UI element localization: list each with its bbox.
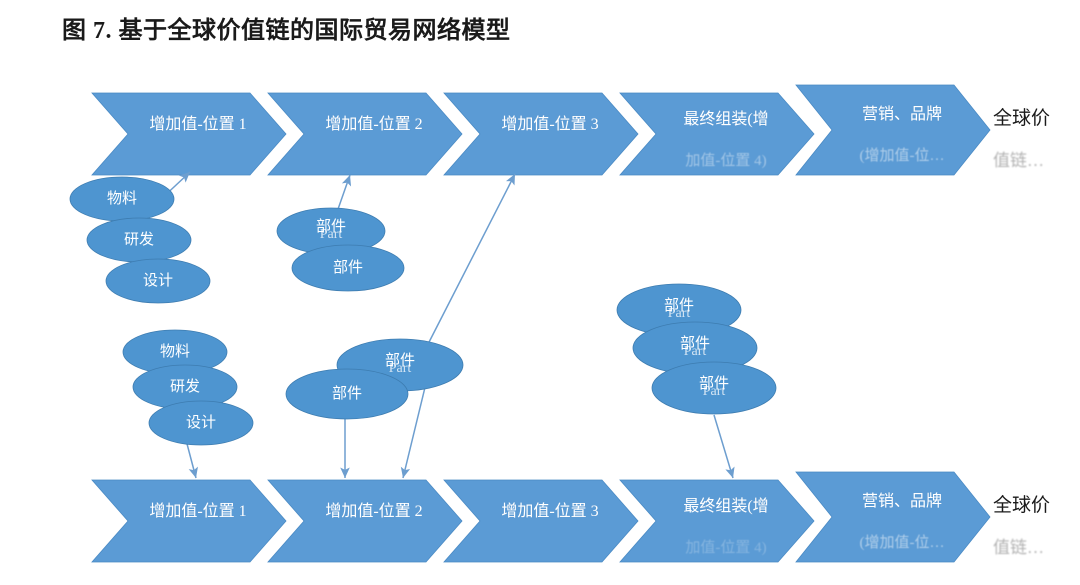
ellipse-label-c1-1: 研发 (89, 233, 189, 248)
ellipse-label-c5-1: 部件 Part (645, 337, 745, 359)
chevron-label-b1: 增加值-位置 1 (128, 497, 268, 521)
ellipse-label-c1-0: 物料 (72, 192, 172, 207)
ellipse-label-c4-1: 部件 (297, 387, 397, 402)
chevron-label-b4: 最终组装(增 加值-位置 4) (656, 492, 796, 557)
arrow-c4-to-b2b (403, 375, 428, 478)
chevron-shape-t2[interactable] (268, 93, 462, 175)
chevron-label-b3: 增加值-位置 3 (480, 497, 620, 521)
ellipse-label-c2-1: 部件 (298, 261, 398, 276)
arrow-c2-to-t2 (337, 175, 350, 212)
ellipse-label-c5-2: 部件 Part (664, 377, 764, 399)
chevron-label-t2: 增加值-位置 2 (304, 110, 444, 134)
arrow-c3-to-b1 (186, 440, 196, 478)
connector-arrows (143, 172, 733, 478)
ellipse-label-c2-0: 部件 Part (281, 220, 381, 242)
arrow-c4-to-t3 (425, 174, 515, 350)
cluster-c4-shapes (286, 339, 463, 419)
chevron-shape-b2[interactable] (268, 480, 462, 562)
arrow-c5-to-b4 (714, 415, 733, 478)
chevron-shape-b1[interactable] (92, 480, 286, 562)
diagram-canvas: 增加值-位置 1 增加值-位置 2 增加值-位置 3 最终组装(增 加值-位置 … (0, 0, 1080, 585)
ellipse-label-c3-1: 研发 (135, 380, 235, 395)
chevron-shape-t3[interactable] (444, 93, 638, 175)
top-chain-edge-caption: 全球价 值链… (993, 103, 1050, 171)
chevron-shape-t1[interactable] (92, 93, 286, 175)
chevron-label-t1: 增加值-位置 1 (128, 110, 268, 134)
chevron-label-b2: 增加值-位置 2 (304, 497, 444, 521)
chevron-label-t4: 最终组装(增 加值-位置 4) (656, 105, 796, 170)
chevron-label-b5: 营销、品牌 (增加值-位… (832, 487, 972, 552)
chevron-label-t5: 营销、品牌 (增加值-位… (832, 100, 972, 165)
chevron-label-t3: 增加值-位置 3 (480, 110, 620, 134)
bottom-chain-edge-caption: 全球价 值链… (993, 490, 1050, 558)
ellipse-label-c5-0: 部件 Part (629, 299, 729, 321)
chevron-shape-b3[interactable] (444, 480, 638, 562)
ellipse-label-c4-0: 部件 Part (350, 354, 450, 376)
ellipse-label-c3-0: 物料 (125, 345, 225, 360)
ellipse-label-c1-2: 设计 (108, 274, 208, 289)
ellipse-label-c3-2: 设计 (151, 416, 251, 431)
